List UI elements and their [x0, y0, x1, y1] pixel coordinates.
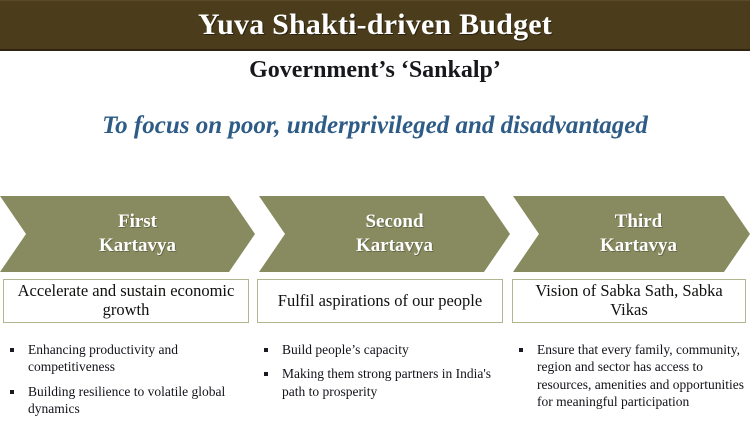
chevron-second-line1: Second — [356, 210, 433, 234]
caption-box-third: Vision of Sabka Sath, Sabka Vikas — [512, 279, 746, 323]
chevron-third-kartavya: Third Kartavya — [513, 196, 750, 272]
page-title: Yuva Shakti-driven Budget — [198, 10, 552, 40]
kartavya-chevron-row: First Kartavya Second Kartavya Third Kar… — [0, 196, 750, 272]
bullet-column-third: Ensure that every family, community, reg… — [505, 341, 750, 417]
bullet-text: Building resilience to volatile global d… — [28, 383, 254, 418]
kartavya-caption-row: Accelerate and sustain economic growth F… — [0, 279, 750, 324]
bullet-column-first: Enhancing productivity and competitivene… — [4, 341, 254, 424]
bullet-text: Enhancing productivity and competitivene… — [28, 341, 254, 376]
title-banner: Yuva Shakti-driven Budget — [0, 0, 750, 51]
bullet-text: Ensure that every family, community, reg… — [537, 341, 750, 410]
bullet-column-second: Build people’s capacity Making them stro… — [258, 341, 506, 407]
chevron-third-line2: Kartavya — [600, 234, 677, 258]
list-item: Ensure that every family, community, reg… — [505, 341, 750, 410]
chevron-first-line1: First — [99, 210, 176, 234]
list-item: Making them strong partners in India's p… — [258, 365, 506, 400]
bullet-text: Build people’s capacity — [282, 341, 409, 358]
bullet-text: Making them strong partners in India's p… — [282, 365, 506, 400]
chevron-first-kartavya-label: First Kartavya — [79, 210, 176, 258]
bullet-square-icon — [519, 348, 523, 352]
chevron-third-line1: Third — [600, 210, 677, 234]
subtitle-heading: Government’s ‘Sankalp’ — [0, 57, 750, 83]
kartavya-bullets-row: Enhancing productivity and competitivene… — [0, 341, 750, 440]
bullet-square-icon — [264, 372, 268, 376]
bullet-square-icon — [10, 348, 14, 352]
list-item: Building resilience to volatile global d… — [4, 383, 254, 418]
caption-text-third: Vision of Sabka Sath, Sabka Vikas — [519, 282, 739, 320]
bullet-square-icon — [10, 390, 14, 394]
list-item: Build people’s capacity — [258, 341, 506, 358]
caption-text-first: Accelerate and sustain economic growth — [10, 282, 242, 320]
caption-text-second: Fulfil aspirations of our people — [278, 292, 482, 311]
chevron-third-kartavya-label: Third Kartavya — [586, 210, 677, 258]
list-item: Enhancing productivity and competitivene… — [4, 341, 254, 376]
tagline-text: To focus on poor, underprivileged and di… — [55, 110, 695, 141]
chevron-second-line2: Kartavya — [356, 234, 433, 258]
chevron-second-kartavya-label: Second Kartavya — [336, 210, 433, 258]
bullet-square-icon — [264, 348, 268, 352]
chevron-second-kartavya: Second Kartavya — [259, 196, 510, 272]
chevron-first-line2: Kartavya — [99, 234, 176, 258]
caption-box-second: Fulfil aspirations of our people — [257, 279, 503, 323]
caption-box-first: Accelerate and sustain economic growth — [3, 279, 249, 323]
chevron-first-kartavya: First Kartavya — [0, 196, 255, 272]
